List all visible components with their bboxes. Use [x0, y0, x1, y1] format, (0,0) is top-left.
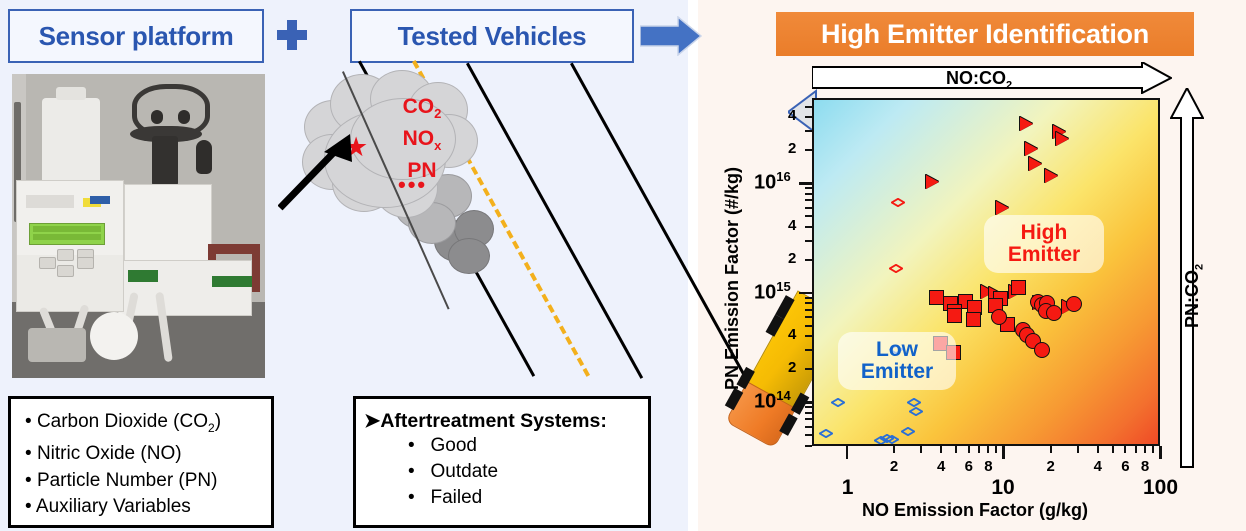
list-item: • Auxiliary Variables	[11, 494, 271, 521]
gas-species-labels: CO2 NOx PN	[384, 94, 460, 183]
axis-tick	[799, 292, 812, 295]
axis-tick	[805, 297, 812, 299]
axis-tick	[805, 226, 812, 228]
axis-tick-label: 8	[984, 458, 992, 475]
axis-tick	[805, 316, 812, 318]
axis-tick	[805, 193, 812, 195]
measured-species-box: • Carbon Dioxide (CO2) • Nitric Oxide (N…	[8, 396, 274, 528]
axis-tick	[805, 412, 812, 414]
axis-tick	[799, 182, 812, 185]
axis-tick-label: 8	[1141, 458, 1149, 475]
axis-tick	[805, 302, 812, 304]
axis-tick-label: 1014	[754, 388, 791, 414]
axis-tick	[805, 207, 812, 209]
scatter-chart: NO:CO2 PN:CO2 High Emitter Low Emitter	[698, 60, 1246, 531]
axis-tick	[805, 406, 812, 408]
axis-tick	[805, 309, 812, 311]
axis-tick	[805, 116, 812, 118]
axis-tick	[1159, 446, 1162, 459]
aftertreatment-systems-box: ➤Aftertreatment Systems: • Good • Outdat…	[353, 396, 651, 528]
aftertreatment-heading: ➤Aftertreatment Systems:	[356, 409, 648, 433]
axis-tick	[968, 446, 970, 453]
axis-tick	[846, 446, 849, 459]
axis-tick	[1152, 446, 1154, 453]
graphical-abstract: Sensor platform Tested Vehicles High Emi…	[0, 0, 1246, 531]
list-item: • Particle Number (PN)	[11, 468, 271, 495]
axis-tick	[805, 418, 812, 420]
high-emitter-identification-header: High Emitter Identification	[776, 12, 1194, 56]
axis-tick	[1135, 446, 1137, 453]
axis-tick-label: 10	[991, 476, 1014, 500]
list-item: • Outdate	[356, 459, 648, 485]
axis-tick	[805, 187, 812, 189]
axis-tick	[805, 426, 812, 428]
axis-tick	[1050, 446, 1052, 453]
axis-tick-label: 4	[788, 217, 796, 234]
axis-tick	[1097, 446, 1099, 453]
sensor-platform-title: Sensor platform	[8, 9, 264, 63]
axis-tick	[805, 259, 812, 261]
axis-tick	[805, 215, 812, 217]
axis-tick	[805, 240, 812, 242]
axis-tick	[1077, 446, 1079, 453]
roadside-measurement-diagram: ★ CO2 NOx PN •••	[288, 62, 688, 382]
sensor-platform-photo	[12, 74, 265, 378]
axis-tick-label: 1015	[754, 279, 791, 305]
plus-icon	[277, 20, 307, 50]
axis-tick-label: 1016	[754, 169, 791, 195]
list-item: • Nitric Oxide (NO)	[11, 441, 271, 468]
axis-tick	[805, 325, 812, 327]
axis-tick	[893, 446, 895, 453]
axis-tick-label: 2	[890, 458, 898, 475]
axis-tick	[920, 446, 922, 453]
header-label: High Emitter Identification	[821, 19, 1149, 50]
axis-tick-label: 6	[1121, 458, 1129, 475]
axis-tick	[1144, 446, 1146, 453]
axis-tick	[995, 446, 997, 453]
axis-tick	[805, 199, 812, 201]
axis-tick	[805, 349, 812, 351]
axis-tick	[805, 106, 812, 108]
axis-tick-label: 1	[842, 476, 854, 500]
axis-tick-label: 4	[788, 107, 796, 124]
axis-tick	[805, 130, 812, 132]
axis-tick-label: 2	[1047, 458, 1055, 475]
axis-tick	[805, 434, 812, 436]
axis-tick	[805, 335, 812, 337]
x-axis-title: NO Emission Factor (g/kg)	[862, 500, 1088, 521]
tested-vehicles-label: Tested Vehicles	[398, 21, 587, 52]
y-axis-title: PN Emission Factor (#/kg)	[722, 167, 743, 390]
axis-tick-label: 4	[937, 458, 945, 475]
axis-tick	[940, 446, 942, 453]
road-edge-right	[466, 63, 643, 379]
axis-tick	[799, 401, 812, 404]
axis-tick	[805, 368, 812, 370]
axis-tick-label: 4	[788, 326, 796, 343]
axis-tick	[955, 446, 957, 453]
axis-tick-label: 2	[788, 140, 796, 157]
axis-tick-label: 2	[788, 250, 796, 267]
sensor-platform-label: Sensor platform	[39, 21, 234, 52]
measurement-pointer-icon	[278, 122, 368, 217]
axis-tick	[978, 446, 980, 453]
axis-tick-label: 4	[1094, 458, 1102, 475]
axis-tick	[1124, 446, 1126, 453]
axis-tick-label: 100	[1143, 476, 1178, 500]
list-item: • Carbon Dioxide (CO2)	[11, 409, 271, 441]
panel-divider	[688, 0, 698, 531]
axis-tick	[987, 446, 989, 453]
right-arrow-icon	[640, 16, 702, 56]
axis-tick-label: 6	[965, 458, 973, 475]
axis-tick-label: 2	[788, 359, 796, 376]
tested-vehicles-title: Tested Vehicles	[350, 9, 634, 63]
axis-tick	[1112, 446, 1114, 453]
axis-tick	[1002, 446, 1005, 459]
list-item: • Good	[356, 433, 648, 459]
axis-tick	[805, 149, 812, 151]
ellipsis-label: •••	[398, 172, 427, 198]
axis-tick	[805, 445, 812, 447]
list-item: • Failed	[356, 485, 648, 511]
